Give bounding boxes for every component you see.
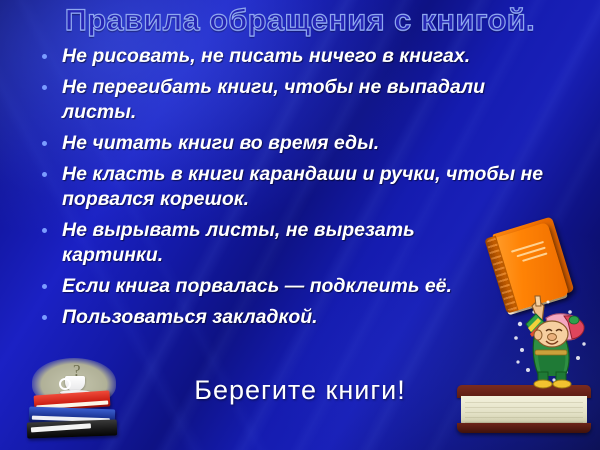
slide-title: Правила обращения с книгой. [0, 2, 600, 42]
list-item: Не перегибать книги, чтобы не выпадали л… [30, 75, 578, 125]
big-book-base-cover [457, 423, 591, 433]
bullet-dot-icon [42, 54, 47, 59]
list-item-label: Не читать книги во время еды. [62, 131, 379, 156]
big-book-icon [455, 385, 595, 437]
list-item-label: Не вырывать листы, не вырезать картинки. [62, 218, 492, 268]
bullet-dot-icon [42, 172, 47, 177]
list-item-label: Если книга порвалась — подклеить её. [62, 274, 452, 299]
bullet-dot-icon [42, 85, 47, 90]
bullet-dot-icon [42, 141, 47, 146]
bullet-dot-icon [42, 315, 47, 320]
big-book-pages [461, 396, 587, 426]
bullet-dot-icon [42, 228, 47, 233]
list-item-label: Не класть в книги карандаши и ручки, что… [62, 162, 562, 212]
list-item-label: Не перегибать книги, чтобы не выпадали л… [62, 75, 492, 125]
book-stack-icon: ? [18, 358, 128, 442]
black-book [27, 419, 118, 438]
bullet-dot-icon [42, 284, 47, 289]
gnome-character-icon [508, 294, 592, 390]
list-item: Не класть в книги карандаши и ручки, что… [30, 162, 578, 212]
list-item: Не рисовать, не писать ничего в книгах. [30, 44, 578, 69]
list-item-label: Не рисовать, не писать ничего в книгах. [62, 44, 470, 69]
presentation-slide: Правила обращения с книгой. Не рисовать,… [0, 0, 600, 450]
list-item-label: Пользоваться закладкой. [62, 305, 318, 330]
list-item: Не читать книги во время еды. [30, 131, 578, 156]
